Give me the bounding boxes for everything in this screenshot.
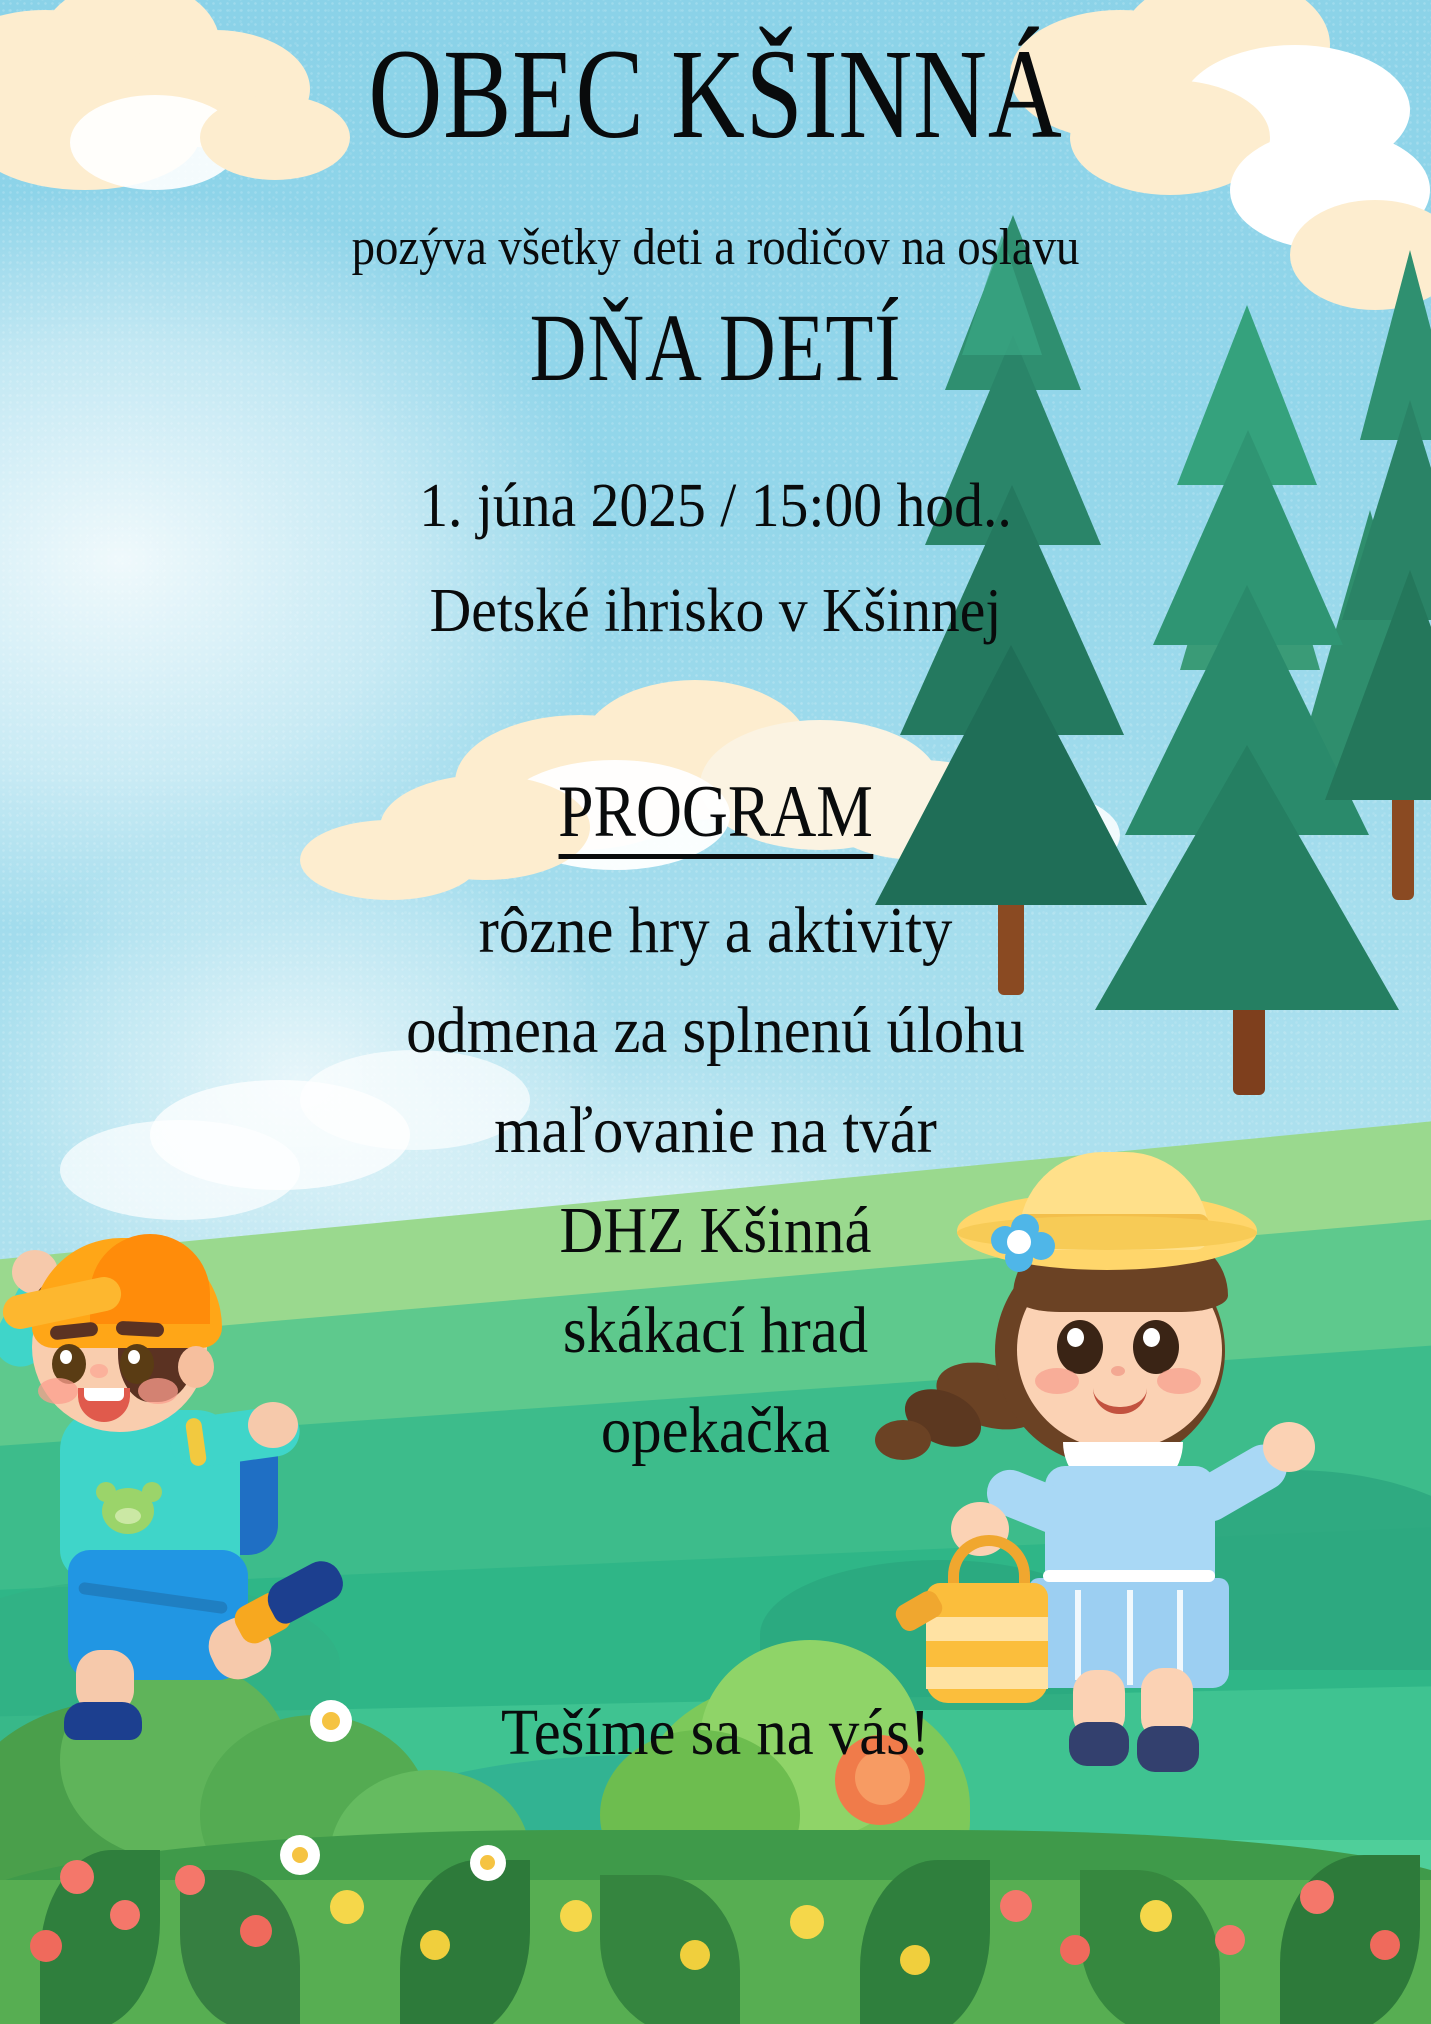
event-date-time: 1. júna 2025 / 15:00 hod.. [50,475,1381,537]
program-item: rôzne hry a aktivity [57,898,1374,964]
program-item: skákací hrad [57,1298,1374,1364]
program-item: odmena za splnenú úlohu [57,998,1374,1064]
closing-line: Tešíme sa na vás! [57,1700,1374,1766]
program-heading-text: PROGRAM [558,775,873,859]
event-location: Detské ihrisko v Kšinnej [50,580,1381,642]
poster-canvas: OBEC KŠINNÁ pozýva všetky deti a rodičov… [0,0,1431,2024]
program-heading: PROGRAM [100,775,1331,859]
watering-can [920,1545,1060,1725]
program-item: opekačka [57,1398,1374,1464]
event-name: DŇA DETÍ [129,300,1302,396]
program-item: maľovanie na tvár [57,1098,1374,1164]
program-item: DHZ Kšinná [57,1198,1374,1264]
page-title: OBEC KŠINNÁ [143,30,1288,158]
invite-line: pozýva všetky deti a rodičov na oslavu [72,222,1360,274]
